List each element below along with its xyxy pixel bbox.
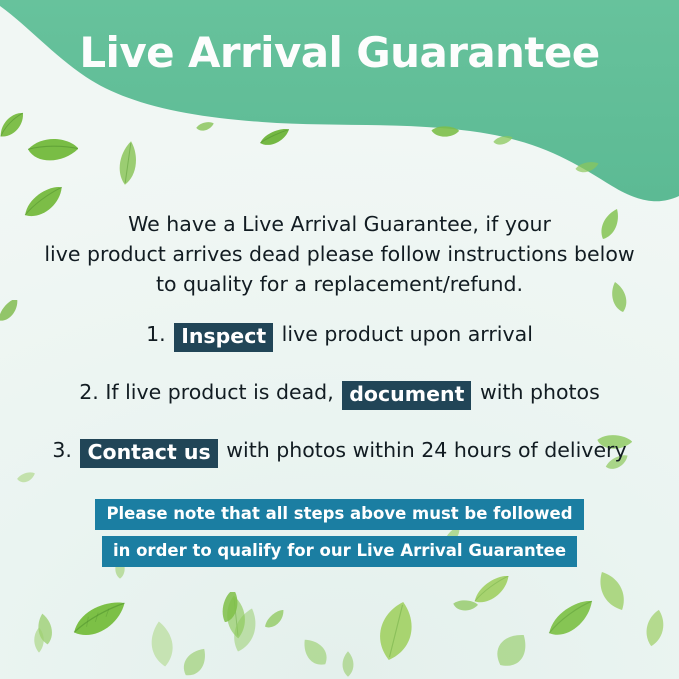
leaf-icon	[30, 626, 48, 654]
step-number-1: 1.	[146, 322, 166, 346]
leaf-icon	[34, 612, 56, 646]
page-title: Live Arrival Guarantee	[0, 27, 679, 79]
note-row-1: Please note that all steps above must be…	[0, 499, 679, 530]
live-arrival-guarantee-poster: Live Arrival Guarantee We have a Live Ar…	[0, 0, 679, 679]
note-banner-line-2: in order to qualify for our Live Arrival…	[102, 536, 577, 567]
note-banner-group: Please note that all steps above must be…	[0, 499, 679, 573]
leaf-icon	[598, 568, 626, 614]
step-text-before-2: If live product is dead,	[105, 380, 333, 404]
step-item-3: 3. Contact us with photos within 24 hour…	[0, 436, 679, 468]
intro-paragraph: We have a Live Arrival Guarantee, if you…	[0, 209, 679, 299]
leaf-icon	[144, 620, 180, 668]
leaf-icon	[370, 600, 422, 662]
leaf-icon	[470, 576, 514, 606]
step-highlight-contact-us: Contact us	[80, 439, 217, 468]
leaf-icon	[490, 630, 534, 670]
note-row-2: in order to qualify for our Live Arrival…	[0, 536, 679, 567]
leaf-icon	[262, 610, 288, 630]
step-item-2: 2. If live product is dead, document wit…	[0, 378, 679, 410]
step-highlight-document: document	[342, 381, 471, 410]
intro-line-2: live product arrives dead please follow …	[0, 239, 679, 269]
step-number-2: 2.	[79, 380, 99, 404]
intro-line-3: to quality for a replacement/refund.	[0, 269, 679, 299]
step-text-after-2: with photos	[480, 380, 600, 404]
leaf-icon	[228, 606, 262, 654]
leaf-icon	[178, 645, 212, 679]
leaf-icon	[300, 635, 330, 669]
leaf-icon	[452, 596, 478, 616]
leaf-icon	[544, 600, 598, 640]
intro-line-1: We have a Live Arrival Guarantee, if you…	[0, 209, 679, 239]
step-highlight-inspect: Inspect	[174, 323, 273, 352]
leaf-icon	[0, 300, 24, 322]
note-banner-line-1: Please note that all steps above must be…	[95, 499, 583, 530]
leaf-icon	[214, 592, 248, 622]
leaf-icon	[642, 608, 668, 648]
step-item-1: 1. Inspect live product upon arrival	[0, 320, 679, 352]
steps-list: 1. Inspect live product upon arrival 2. …	[0, 320, 679, 494]
leaf-icon	[222, 594, 250, 640]
step-number-3: 3.	[52, 438, 72, 462]
step-text-after-1: live product upon arrival	[282, 322, 533, 346]
leaf-icon	[338, 650, 358, 678]
leaf-icon	[70, 600, 130, 642]
step-text-after-3: with photos within 24 hours of delivery	[226, 438, 626, 462]
